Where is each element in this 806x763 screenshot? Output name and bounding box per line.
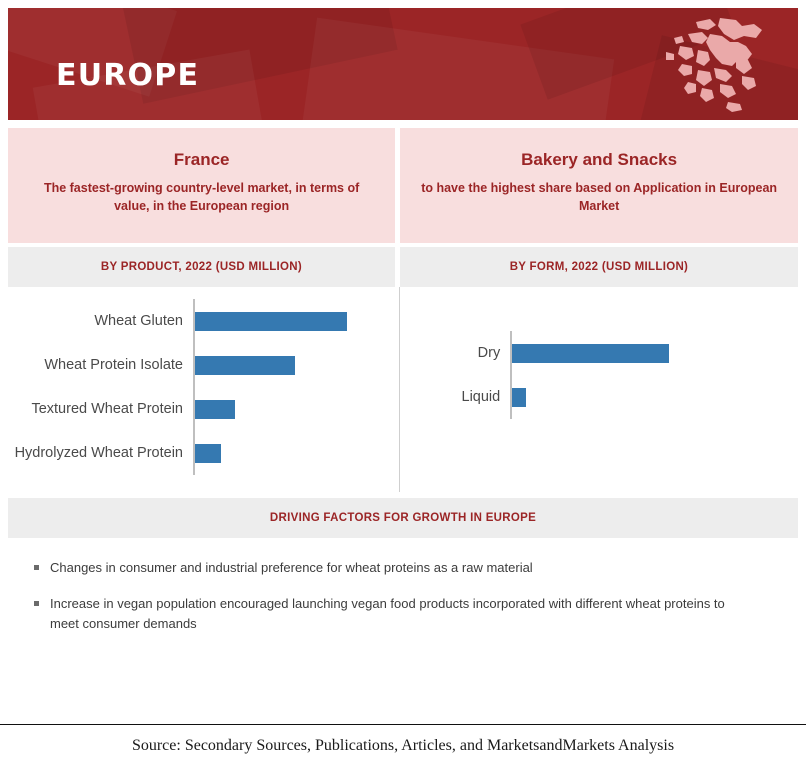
bar-dry — [512, 344, 669, 363]
chart-header-by-form: BY FORM, 2022 (USD MILLION) — [400, 247, 798, 287]
bar-row: Wheat Gluten — [8, 299, 394, 343]
bullet-square-icon — [34, 601, 39, 606]
page-title: EUROPE — [56, 58, 199, 93]
footer-divider — [0, 724, 806, 725]
bullet-square-icon — [34, 565, 39, 570]
driving-factor-text: Increase in vegan population encouraged … — [50, 594, 750, 634]
charts-row: Wheat Gluten Wheat Protein Isolate Textu… — [8, 287, 798, 492]
list-item: Changes in consumer and industrial prefe… — [34, 558, 772, 578]
bar-track — [193, 343, 394, 387]
bar-track — [510, 331, 798, 375]
chart-header-by-product: BY PRODUCT, 2022 (USD MILLION) — [8, 247, 395, 287]
bar-textured-wheat-protein — [195, 400, 235, 419]
callout-card-application: Bakery and Snacks to have the highest sh… — [400, 128, 798, 243]
bar-track — [193, 299, 394, 343]
bar-label: Wheat Gluten — [8, 312, 193, 330]
bar-row: Liquid — [400, 375, 798, 419]
callout-card-title: Bakery and Snacks — [418, 150, 780, 170]
region-banner: EUROPE — [8, 8, 798, 120]
callout-card-title: France — [26, 150, 377, 170]
bar-row: Hydrolyzed Wheat Protein — [8, 431, 394, 475]
callout-cards: France The fastest-growing country-level… — [8, 128, 798, 243]
driving-factor-text: Changes in consumer and industrial prefe… — [50, 558, 533, 578]
bar-row: Textured Wheat Protein — [8, 387, 394, 431]
bar-liquid — [512, 388, 526, 407]
bar-row: Dry — [400, 331, 798, 375]
bar-label: Wheat Protein Isolate — [8, 356, 193, 374]
bar-label: Hydrolyzed Wheat Protein — [8, 444, 193, 462]
chart-section-headers: BY PRODUCT, 2022 (USD MILLION) BY FORM, … — [8, 247, 798, 287]
bar-track — [193, 431, 394, 475]
bar-wheat-protein-isolate — [195, 356, 295, 375]
driving-factors-list: Changes in consumer and industrial prefe… — [8, 552, 798, 634]
callout-card-subtitle: to have the highest share based on Appli… — [418, 179, 780, 215]
driving-factors-header: DRIVING FACTORS FOR GROWTH IN EUROPE — [8, 498, 798, 538]
source-note: Source: Secondary Sources, Publications,… — [0, 737, 806, 755]
bar-track — [510, 375, 798, 419]
bar-label: Liquid — [400, 388, 510, 406]
bar-hydrolyzed-wheat-protein — [195, 444, 221, 463]
callout-card-country: France The fastest-growing country-level… — [8, 128, 395, 243]
europe-map-icon — [658, 16, 768, 114]
chart-by-form: Dry Liquid — [399, 287, 798, 492]
chart-spacer — [400, 299, 798, 331]
bar-label: Dry — [400, 344, 510, 362]
chart-by-product: Wheat Gluten Wheat Protein Isolate Textu… — [8, 287, 394, 492]
list-item: Increase in vegan population encouraged … — [34, 594, 772, 634]
bar-track — [193, 387, 394, 431]
callout-card-subtitle: The fastest-growing country-level market… — [26, 179, 377, 215]
infographic-page: EUROPE — [0, 8, 806, 763]
bar-wheat-gluten — [195, 312, 347, 331]
bar-row: Wheat Protein Isolate — [8, 343, 394, 387]
bar-label: Textured Wheat Protein — [8, 400, 193, 418]
